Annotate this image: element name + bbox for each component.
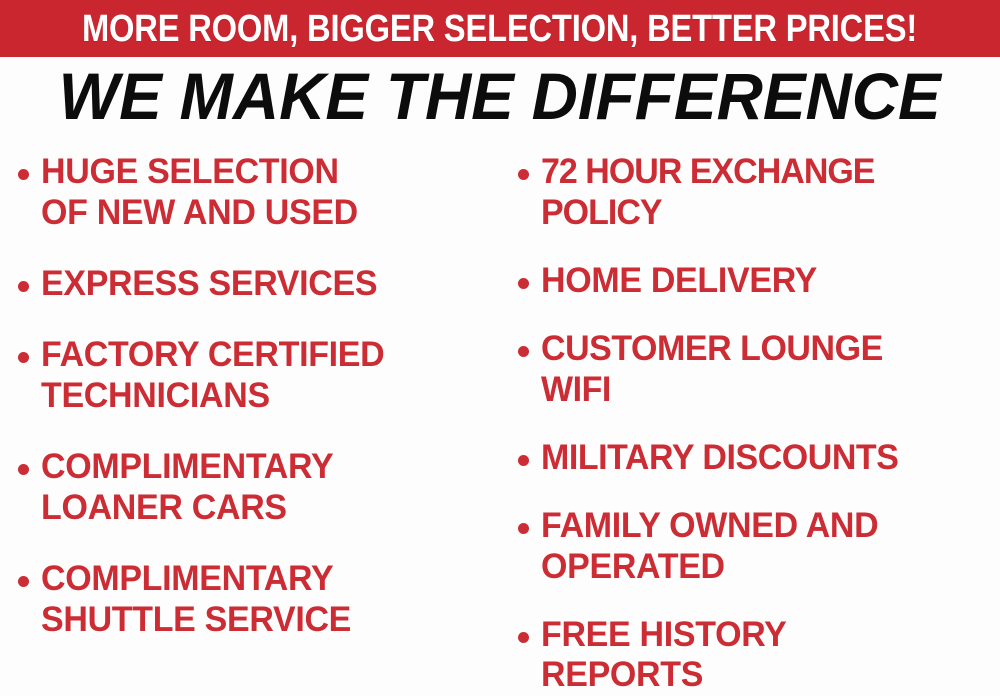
bullet-dot-icon: [18, 281, 29, 292]
benefits-columns: HUGE SELECTION OF NEW AND USED EXPRESS S…: [0, 152, 1000, 694]
benefits-column-left: HUGE SELECTION OF NEW AND USED EXPRESS S…: [0, 152, 500, 694]
advertisement-root: MORE ROOM, BIGGER SELECTION, BETTER PRIC…: [0, 0, 1000, 694]
list-item-label: EXPRESS SERVICES: [41, 264, 377, 305]
list-item-label: COMPLIMENTARY LOANER CARS: [41, 447, 333, 529]
bullet-dot-icon: [18, 464, 29, 475]
list-item: HUGE SELECTION OF NEW AND USED: [18, 152, 494, 234]
list-item: COMPLIMENTARY SHUTTLE SERVICE: [18, 559, 494, 641]
bullet-dot-icon: [518, 632, 529, 643]
headline-text: WE MAKE THE DIFFERENCE: [59, 63, 941, 130]
list-item-label: HOME DELIVERY: [541, 261, 817, 302]
bullet-dot-icon: [518, 455, 529, 466]
list-item-label: COMPLIMENTARY SHUTTLE SERVICE: [41, 559, 351, 641]
list-item-label: FREE HISTORY REPORTS: [541, 615, 787, 696]
benefits-column-right: 72 HOUR EXCHANGE POLICY HOME DELIVERY CU…: [500, 152, 1000, 694]
list-item-label: FACTORY CERTIFIED TECHNICIANS: [41, 335, 384, 417]
bullet-dot-icon: [518, 278, 529, 289]
list-item: COMPLIMENTARY LOANER CARS: [18, 447, 494, 529]
list-item: MILITARY DISCOUNTS: [518, 438, 998, 479]
list-item-label: MILITARY DISCOUNTS: [541, 438, 898, 479]
list-item-label: CUSTOMER LOUNGE WIFI: [541, 329, 883, 411]
bullet-dot-icon: [18, 169, 29, 180]
list-item-label: FAMILY OWNED AND OPERATED: [541, 506, 878, 588]
list-item: FREE HISTORY REPORTS: [518, 615, 998, 696]
list-item: FAMILY OWNED AND OPERATED: [518, 506, 998, 588]
list-item-label: HUGE SELECTION OF NEW AND USED: [41, 152, 358, 234]
bullet-dot-icon: [518, 346, 529, 357]
list-item: CUSTOMER LOUNGE WIFI: [518, 329, 998, 411]
promo-banner-text: MORE ROOM, BIGGER SELECTION, BETTER PRIC…: [82, 10, 917, 48]
list-item: 72 HOUR EXCHANGE POLICY: [518, 152, 998, 234]
bullet-dot-icon: [518, 523, 529, 534]
list-item: HOME DELIVERY: [518, 261, 998, 302]
list-item: FACTORY CERTIFIED TECHNICIANS: [18, 335, 494, 417]
list-item-label: 72 HOUR EXCHANGE POLICY: [541, 152, 874, 234]
bullet-dot-icon: [18, 352, 29, 363]
headline: WE MAKE THE DIFFERENCE: [0, 63, 1000, 130]
bullet-dot-icon: [18, 576, 29, 587]
bullet-dot-icon: [518, 169, 529, 180]
list-item: EXPRESS SERVICES: [18, 264, 494, 305]
promo-banner: MORE ROOM, BIGGER SELECTION, BETTER PRIC…: [0, 0, 1000, 57]
